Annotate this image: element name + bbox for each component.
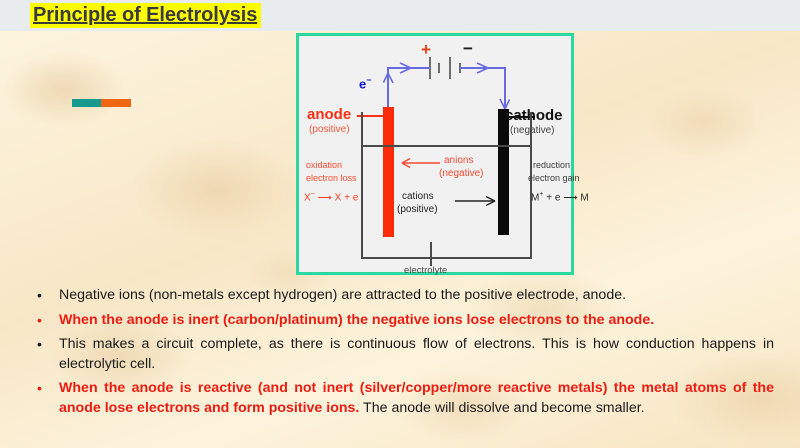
reduction-label: reduction [533,161,570,170]
accent-bar [72,99,131,107]
cathode-eq-middle: + e [546,192,560,203]
slide-canvas: Principle of Electrolysis [0,0,800,448]
electrolysis-diagram: + − e− anode (positive) cathode (negativ… [296,33,574,275]
anions-arrow-left-icon [399,157,441,169]
anode-eq-product: X + e [335,192,359,203]
arrow-electron-up-icon [381,72,395,88]
battery-terminal-lead-left [427,67,431,69]
bullet-text-4: When the anode is reactive (and not iner… [59,379,774,418]
electron-label: e− [359,76,372,90]
electrolyte-surface-line [361,145,532,147]
anode-label: anode [307,107,351,123]
cations-sublabel: (positive) [397,205,438,216]
page-title-container: Principle of Electrolysis [30,3,261,29]
electrolyte-pointer-line [430,242,432,266]
beaker-wall-left [361,145,363,258]
cathode-eq-arrow: ⟶ [563,192,577,203]
cathode-eq-charge: + [539,191,543,198]
bullet-text-3: This makes a circuit complete, as there … [59,335,774,374]
cations-arrow-right-icon [454,195,498,207]
battery-terminal-lead-right [460,67,465,69]
reduction-detail-label: electron gain [528,174,580,183]
bullet-item-4: • When the anode is reactive (and not in… [32,379,774,418]
cations-label: cations [402,192,434,203]
anode-electrode [383,107,394,237]
bullet-text-1: Negative ions (non-metals except hydroge… [59,286,774,306]
bullet-marker-1: • [32,286,59,305]
anions-sublabel: (negative) [439,169,483,180]
electron-charge: − [366,75,371,85]
bullet-item-1: • Negative ions (non-metals except hydro… [32,286,774,306]
cathode-electrode [498,109,509,235]
anode-eq-reactant: X [304,192,311,203]
anode-eq-arrow: ⟶ [318,192,332,203]
oxidation-detail-label: electron loss [306,174,357,183]
bullet-marker-3: • [32,335,59,354]
battery-positive-sign: + [421,41,431,58]
cathode-label: cathode [505,108,563,124]
page-title: Principle of Electrolysis [30,3,261,28]
battery-plate-short-1 [438,63,440,73]
beaker-base [361,257,532,259]
arrow-current-right-1-icon [397,61,413,75]
accent-bar-orange-segment [101,99,131,107]
bullet-text-2: When the anode is inert (carbon/platinum… [59,311,774,331]
arrow-current-right-2-icon [474,61,490,75]
electrolyte-label: electrolyte [404,266,447,276]
battery-negative-sign: − [463,40,473,57]
bullet-marker-4: • [32,379,59,398]
beaker-rim-left [361,112,363,145]
cathode-eq-product: M [580,192,588,203]
bullet-marker-2: • [32,311,59,330]
anode-sublabel: (positive) [309,125,350,136]
anode-eq-charge: − [311,191,315,198]
accent-bar-teal-segment [72,99,101,107]
bullet-item-3: • This makes a circuit complete, as ther… [32,335,774,374]
cathode-sublabel: (negative) [510,126,554,137]
beaker-rim-right [530,112,532,145]
bullet-text-4-tail: The anode will dissolve and become small… [359,400,644,416]
battery-plate-long-2 [449,57,451,79]
oxidation-label: oxidation [306,161,342,170]
bullet-item-2: • When the anode is inert (carbon/platin… [32,311,774,331]
anode-equation: X− ⟶ X + e [304,191,358,204]
cathode-equation: M+ + e ⟶ M [531,191,589,204]
anions-label: anions [444,156,473,167]
bullet-list: • Negative ions (non-metals except hydro… [32,286,774,423]
